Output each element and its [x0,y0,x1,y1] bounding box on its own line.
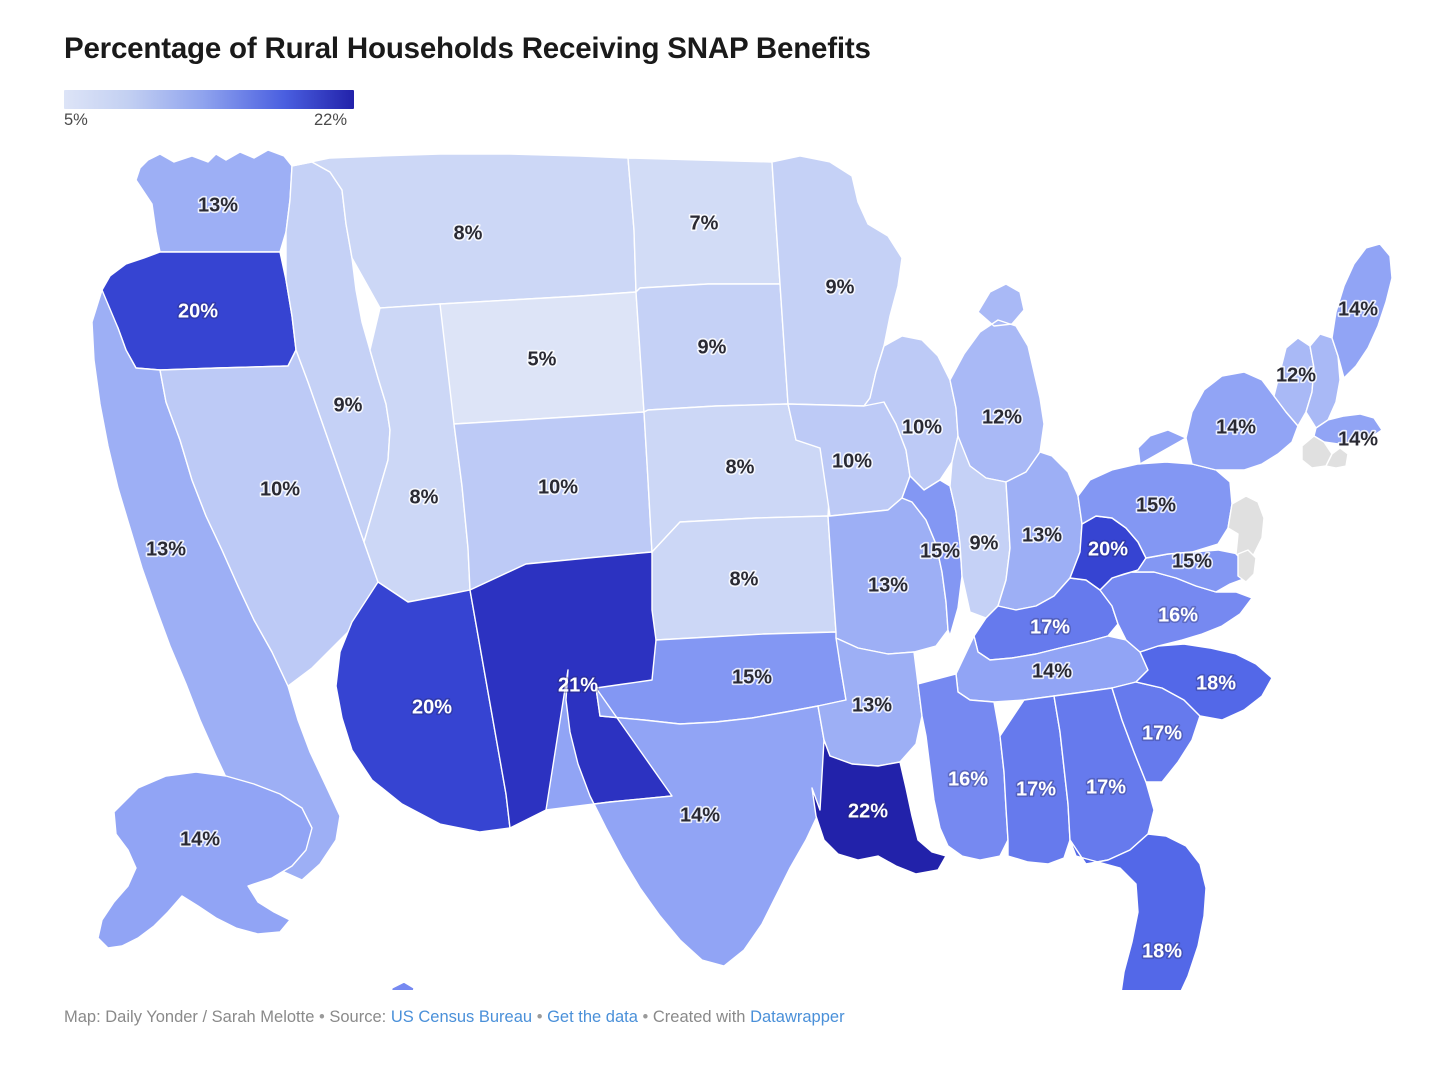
state-value-label-ks: 8% [730,568,759,590]
state-value-label-md: 15% [1172,550,1212,572]
legend-max-label: 22% [314,111,347,130]
state-value-label-oh: 13% [1022,524,1062,546]
state-value-label-sd: 9% [698,336,727,358]
state-value-label-tx: 14% [680,804,720,826]
get-the-data-link[interactable]: Get the data [547,1008,638,1026]
state-value-label-ny: 14% [1216,416,1256,438]
state-value-label-mt: 8% [454,222,483,244]
state-value-label-pa: 15% [1136,494,1176,516]
state-value-label-az: 20% [412,696,452,718]
state-value-label-or: 20% [178,300,218,322]
state-value-label-ne: 8% [726,456,755,478]
state-value-label-ma: 14% [1338,428,1378,450]
state-value-label-nm: 21% [558,674,598,696]
state-value-label-in: 9% [970,532,999,554]
state-value-label-id: 9% [334,394,363,416]
state-ak[interactable] [98,772,312,948]
state-ms[interactable] [918,674,1008,860]
state-value-label-mo: 13% [868,574,908,596]
state-value-label-tn: 14% [1032,660,1072,682]
state-value-label-va: 16% [1158,604,1198,626]
map-page: Percentage of Rural Households Receiving… [0,0,1440,1074]
map-credit-text: Map: Daily Yonder / Sarah Melotte [64,1008,314,1026]
state-value-label-ok: 15% [732,666,772,688]
state-value-label-mn: 9% [826,276,855,298]
state-value-label-ky: 17% [1030,616,1070,638]
state-value-label-ms: 16% [948,768,988,790]
color-legend: 5% 22% [64,90,354,131]
state-de[interactable] [1238,550,1256,582]
state-value-label-nd: 7% [690,212,719,234]
state-value-label-wy: 5% [528,348,557,370]
page-title: Percentage of Rural Households Receiving… [64,32,871,66]
choropleth-map: 13%20%13%10%9%8%5%8%20%10%21%7%9%8%8%15%… [40,140,1400,990]
state-value-label-la: 22% [848,800,888,822]
us-states-svg: 13%20%13%10%9%8%5%8%20%10%21%7%9%8%8%15%… [40,140,1400,990]
state-value-label-co: 10% [538,476,578,498]
state-value-label-ia: 10% [832,450,872,472]
state-value-label-wv: 20% [1088,538,1128,560]
state-value-label-nv: 10% [260,478,300,500]
legend-tick-labels: 5% 22% [64,111,354,131]
state-value-label-fl: 18% [1142,940,1182,962]
source-link[interactable]: US Census Bureau [391,1008,532,1026]
source-prefix-text: Source: [329,1008,386,1026]
footer-credits: Map: Daily Yonder / Sarah Melotte • Sour… [64,1008,845,1027]
footer-separator-2: • [537,1008,543,1026]
legend-gradient-bar [64,90,354,109]
state-value-label-sc: 17% [1142,722,1182,744]
legend-min-label: 5% [64,111,88,130]
state-value-label-ut: 8% [410,486,439,508]
state-value-label-nc: 18% [1196,672,1236,694]
state-value-label-al: 17% [1016,778,1056,800]
footer-separator-1: • [319,1008,325,1026]
state-value-label-ak: 14% [180,828,220,850]
datawrapper-link[interactable]: Datawrapper [750,1008,844,1026]
state-value-label-wa: 13% [198,194,238,216]
state-value-label-me: 14% [1338,298,1378,320]
state-value-label-ga: 17% [1086,776,1126,798]
state-value-label-il: 15% [920,540,960,562]
state-value-label-vt: 12% [1276,364,1316,386]
created-with-text: Created with [653,1008,746,1026]
state-hi[interactable] [390,982,542,990]
state-value-label-wi: 10% [902,416,942,438]
state-value-label-mi: 12% [982,406,1022,428]
state-value-label-ar: 13% [852,694,892,716]
state-value-label-ca: 13% [146,538,186,560]
footer-separator-3: • [642,1008,648,1026]
